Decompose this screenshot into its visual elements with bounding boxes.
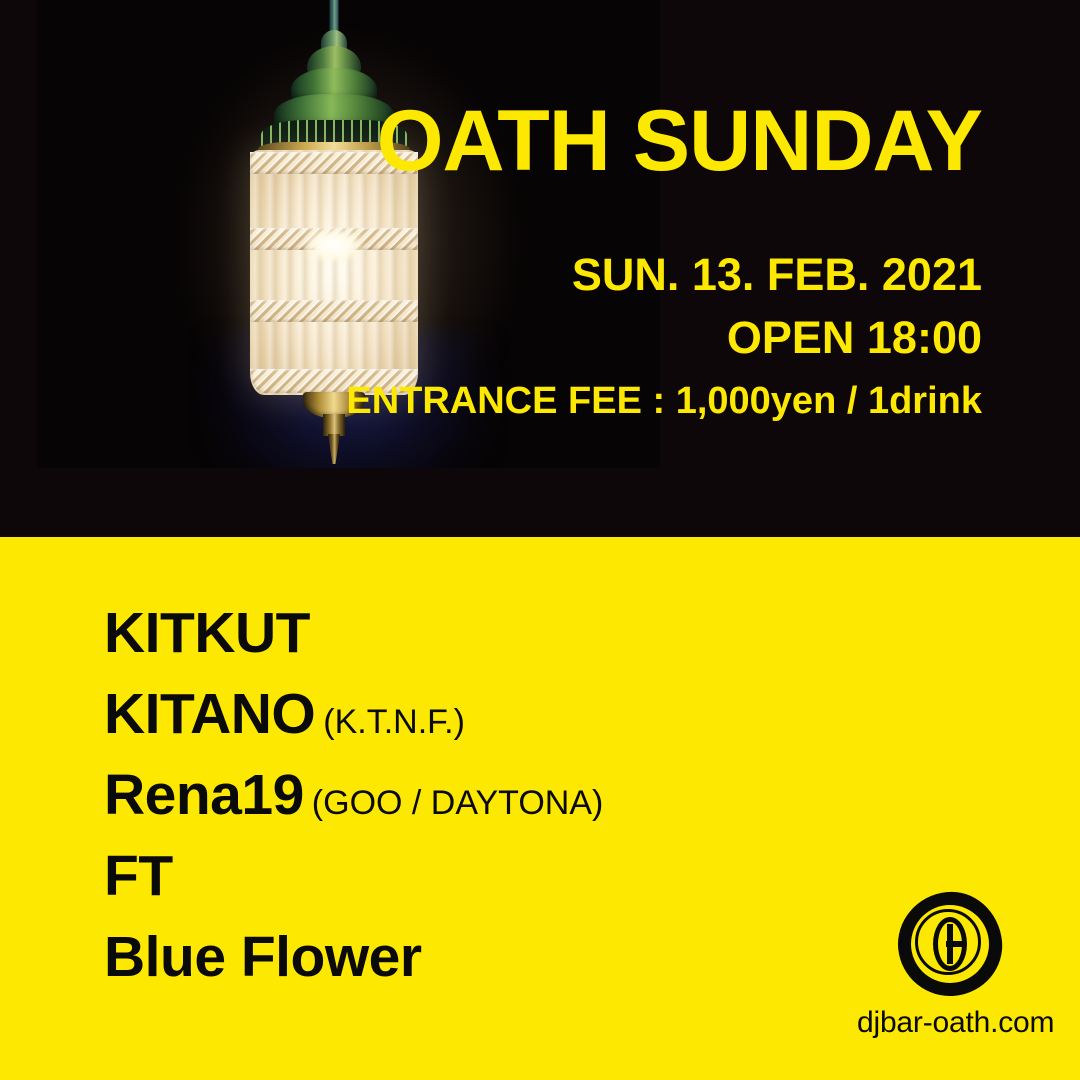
event-date: SUN. 13. FEB. 2021 (0, 252, 982, 297)
logo-monogram-bar (946, 941, 966, 947)
flyer-top-panel: OATH SUNDAY SUN. 13. FEB. 2021 OPEN 18:0… (0, 0, 1080, 537)
list-item: KITKUT (104, 605, 884, 662)
oath-logo-icon (898, 892, 1002, 996)
website-url[interactable]: djbar-oath.com (857, 1006, 1043, 1040)
event-open-time: OPEN 18:00 (0, 315, 982, 360)
artist-affiliation: (GOO / DAYTONA) (312, 784, 604, 822)
event-info-block: SUN. 13. FEB. 2021 OPEN 18:00 ENTRANCE F… (0, 252, 982, 420)
venue-logo-block[interactable]: djbar-oath.com (857, 892, 1043, 1040)
event-entrance-fee: ENTRANCE FEE : 1,000yen / 1drink (0, 382, 982, 420)
artist-name: KITANO (104, 682, 315, 746)
list-item: Rena19(GOO / DAYTONA) (104, 767, 884, 824)
artist-name: KITKUT (104, 601, 310, 665)
flyer-bottom-panel: KITKUT KITANO(K.T.N.F.) Rena19(GOO / DAY… (0, 537, 1080, 1080)
page-title: OATH SUNDAY (0, 98, 982, 184)
list-item: FT (104, 848, 884, 905)
list-item: Blue Flower (104, 929, 884, 986)
event-flyer: OATH SUNDAY SUN. 13. FEB. 2021 OPEN 18:0… (0, 0, 1080, 1080)
list-item: KITANO(K.T.N.F.) (104, 686, 884, 743)
artist-lineup-list: KITKUT KITANO(K.T.N.F.) Rena19(GOO / DAY… (104, 605, 884, 986)
artist-name: Blue Flower (104, 925, 422, 989)
artist-name: FT (104, 844, 173, 908)
artist-affiliation: (K.T.N.F.) (323, 703, 465, 741)
artist-name: Rena19 (104, 763, 304, 827)
